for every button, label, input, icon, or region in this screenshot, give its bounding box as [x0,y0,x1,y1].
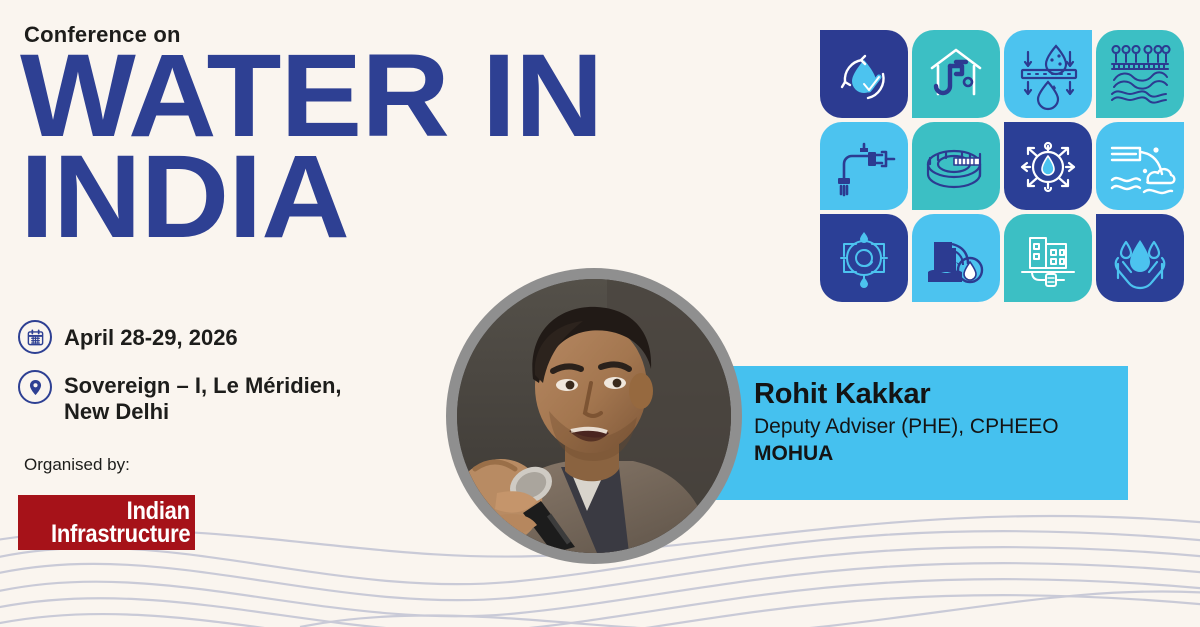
organiser-label: Organised by: [24,455,130,475]
water-theme-icon-grid [820,30,1184,302]
avatar [457,279,731,553]
tile-urban-building-supply [1004,214,1092,302]
event-date-text: April 28-29, 2026 [64,324,238,351]
tile-wastewater-outfall [1096,122,1184,210]
logo-line-2: Infrastructure [51,523,190,546]
venue-line-2: New Delhi [64,399,169,424]
tile-hands-holding-water [1096,214,1184,302]
tile-wetland-treatment [1096,30,1184,118]
speaker-info-banner: Rohit Kakkar Deputy Adviser (PHE), CPHEE… [713,366,1128,500]
speaker-organisation: MOHUA [754,441,1128,467]
page-title: WATER IN INDIA [20,46,603,249]
event-date-row: April 28-29, 2026 [18,320,238,354]
speaker-photo-ring [446,268,742,564]
calendar-icon [18,320,52,354]
tile-home-tap-plumbing [912,30,1000,118]
water-distribution-drop-icon [1022,143,1074,191]
venue-line-1: Sovereign – I, Le Méridien, [64,373,342,398]
event-venue-text: Sovereign – I, Le Méridien, New Delhi [64,370,342,425]
tile-pumping-station-drop [912,214,1000,302]
indian-infrastructure-logo: Indian Infrastructure [18,495,195,550]
title-line-2: INDIA [20,147,603,248]
tile-water-distribution-drop [1004,122,1092,210]
tile-clarifier-tank [912,122,1000,210]
tile-water-recycle-drop [820,30,908,118]
map-pin-icon [18,370,52,404]
event-venue-row: Sovereign – I, Le Méridien, New Delhi [18,370,342,425]
tile-water-meter-valve [820,214,908,302]
tile-water-filtration-drop [1004,30,1092,118]
speaker-designation: Deputy Adviser (PHE), CPHEEO [754,414,1128,440]
speaker-name: Rohit Kakkar [754,378,1128,411]
tile-tap-shower-pipe [820,122,908,210]
